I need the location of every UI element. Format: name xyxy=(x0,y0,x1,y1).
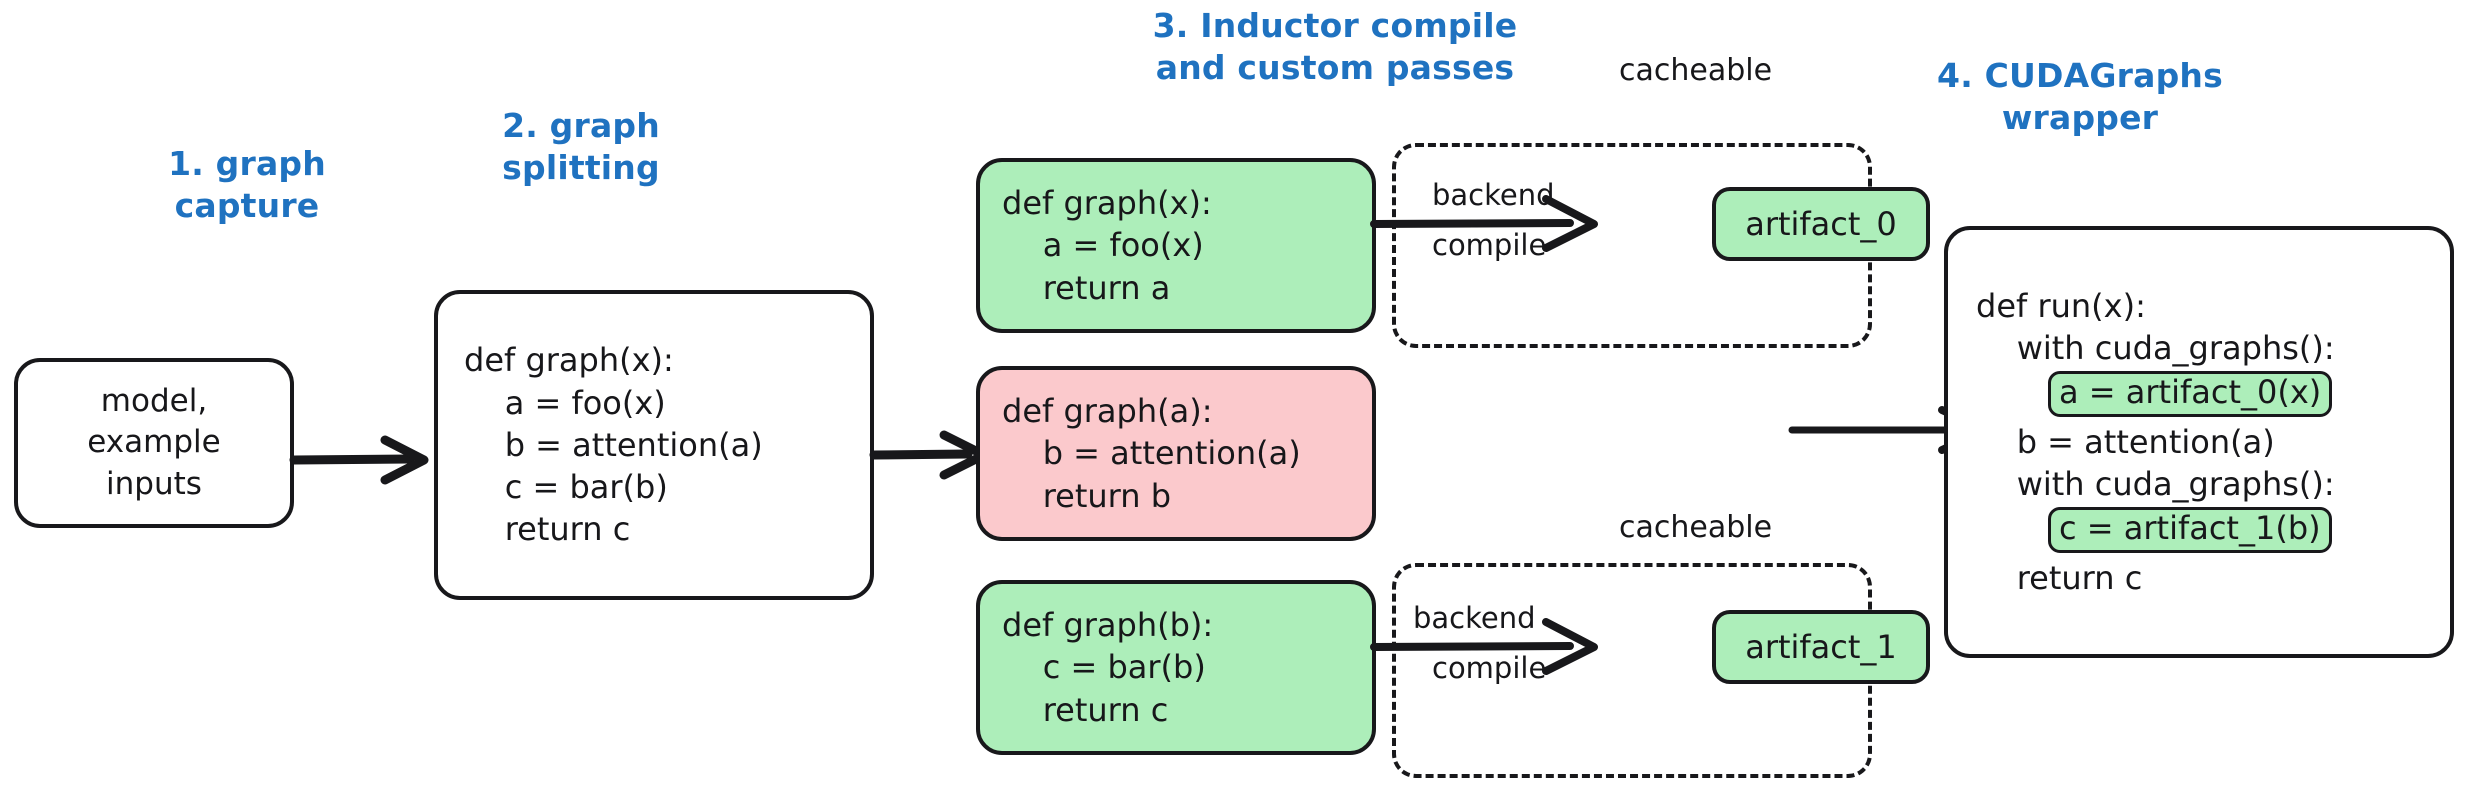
node-subgraph-foo: def graph(x): a = foo(x) return a xyxy=(976,158,1376,333)
node-subgraph-bar: def graph(b): c = bar(b) return c xyxy=(976,580,1376,755)
step-label-3: 3. Inductor compile and custom passes xyxy=(1100,5,1570,88)
node-run-wrapper: def run(x): with cuda_graphs(): a = arti… xyxy=(1944,226,2454,658)
run-line-2: with cuda_graphs(): xyxy=(1976,327,2450,369)
node-captured-graph-code: def graph(x): a = foo(x) b = attention(a… xyxy=(464,339,870,550)
step-label-1: 1. graph capture xyxy=(152,143,342,226)
node-subgraph-attention-code: def graph(a): b = attention(a) return b xyxy=(1002,390,1372,517)
run-line-6-highlight: c = artifact_1(b) xyxy=(2048,507,2332,553)
node-model-inputs-label: model, example inputs xyxy=(87,381,220,505)
node-subgraph-foo-code: def graph(x): a = foo(x) return a xyxy=(1002,182,1372,309)
node-artifact-1: artifact_1 xyxy=(1712,610,1930,684)
step-label-2: 2. graph splitting xyxy=(476,105,686,188)
node-subgraph-attention: def graph(a): b = attention(a) return b xyxy=(976,366,1376,541)
run-line-6-wrapper: c = artifact_1(b) xyxy=(1976,507,2450,553)
run-line-1: def run(x): xyxy=(1976,285,2450,327)
node-subgraph-bar-code: def graph(b): c = bar(b) return c xyxy=(1002,604,1372,731)
run-line-3-wrapper: a = artifact_0(x) xyxy=(1976,371,2450,417)
node-model-inputs: model, example inputs xyxy=(14,358,294,528)
cacheable-caption-bottom: cacheable xyxy=(1619,510,1772,546)
run-line-4: b = attention(a) xyxy=(1976,421,2450,463)
arrow-compile-artifact-1 xyxy=(1370,605,1610,690)
node-artifact-0: artifact_0 xyxy=(1712,187,1930,261)
diagram-canvas: 1. graph capture 2. graph splitting 3. I… xyxy=(0,0,2474,794)
cacheable-caption-top: cacheable xyxy=(1619,53,1772,89)
run-line-5: with cuda_graphs(): xyxy=(1976,463,2450,505)
arrow-inputs-to-graph xyxy=(292,430,442,490)
node-captured-graph: def graph(x): a = foo(x) b = attention(a… xyxy=(434,290,874,600)
arrow-compile-artifact-0 xyxy=(1370,182,1610,267)
run-line-3-highlight: a = artifact_0(x) xyxy=(2048,371,2332,417)
step-label-4: 4. CUDAGraphs wrapper xyxy=(1905,55,2255,138)
node-artifact-1-label: artifact_1 xyxy=(1745,628,1897,666)
run-line-7: return c xyxy=(1976,557,2450,599)
node-artifact-0-label: artifact_0 xyxy=(1745,205,1897,243)
